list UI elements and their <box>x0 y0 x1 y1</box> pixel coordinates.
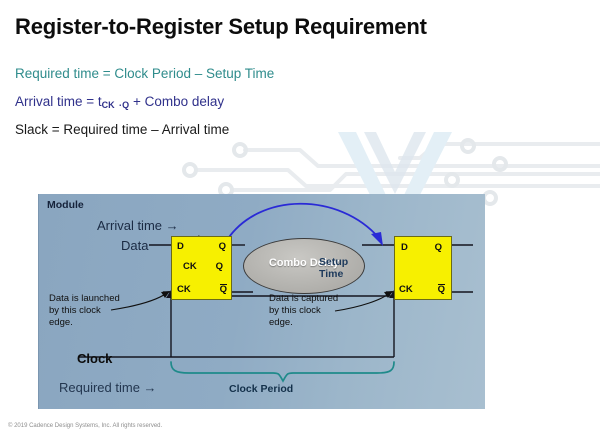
module-box: Module <box>38 194 485 409</box>
slide-root: VERIFICATION MASTER MASTER OF DESIGN VER… <box>0 0 600 437</box>
equation-required-time: Required time = Clock Period – Setup Tim… <box>15 66 274 81</box>
ff1-pin-qbar: Q <box>220 284 227 295</box>
ff1-qbar-text: Q <box>220 284 227 295</box>
required-time-label: Required time → <box>59 380 157 395</box>
equation-arrival-time: Arrival time = tCK .Q + Combo delay <box>15 94 224 110</box>
data-label: Data <box>121 238 148 253</box>
note-right-line2: by this clock <box>269 305 338 317</box>
equation-slack: Slack = Required time – Arrival time <box>15 122 229 137</box>
ff2-pin-q: Q <box>435 242 442 253</box>
ff2-pin-qbar: Q <box>438 284 445 295</box>
note-left-line2: by this clock <box>49 305 120 317</box>
note-right-line1: Data is captured <box>269 293 338 305</box>
setup-time-line1: Setup <box>319 256 348 268</box>
flipflop-launch: D Q CK Q CK Q <box>171 236 232 300</box>
page-title: Register-to-Register Setup Requirement <box>15 14 427 40</box>
ff1-pin-q-mid: Q <box>216 261 223 272</box>
setup-time-label: Setup Time <box>319 256 348 280</box>
note-data-launched: Data is launched by this clock edge. <box>49 293 120 329</box>
ff1-pin-ck-mid: CK <box>183 261 197 272</box>
arrival-time-label: Arrival time → <box>97 218 179 233</box>
ff2-pin-ck: CK <box>399 284 413 295</box>
clock-label: Clock <box>77 351 112 366</box>
ff1-pin-q: Q <box>219 241 226 252</box>
flipflop-capture: D Q CK Q <box>394 236 452 300</box>
ff1-pin-ck: CK <box>177 284 191 295</box>
arrival-sub-ck: CK <box>102 100 115 110</box>
note-right-line3: edge. <box>269 317 338 329</box>
arrival-pre: Arrival time = t <box>15 94 102 109</box>
note-left-line1: Data is launched <box>49 293 120 305</box>
setup-time-line2: Time <box>319 268 348 280</box>
copyright-footer: © 2019 Cadence Design Systems, Inc. All … <box>8 423 162 429</box>
clock-period-label: Clock Period <box>229 383 293 395</box>
ff1-pin-d: D <box>177 241 184 252</box>
note-data-captured: Data is captured by this clock edge. <box>269 293 338 329</box>
ff2-pin-d: D <box>401 242 408 253</box>
arrival-post: + Combo delay <box>129 94 224 109</box>
note-left-line3: edge. <box>49 317 120 329</box>
ff2-qbar-text: Q <box>438 284 445 295</box>
